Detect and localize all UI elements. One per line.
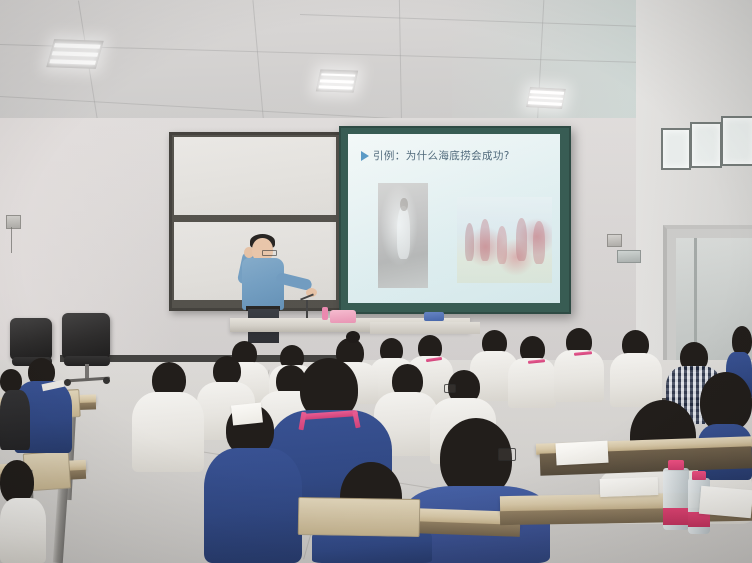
- office-chair[interactable]: [62, 313, 110, 359]
- attendee-torso: [0, 390, 30, 450]
- paper-sheet: [555, 441, 608, 466]
- ceiling-seam: [252, 0, 264, 128]
- presenter-torso: [242, 258, 284, 310]
- wall-speaker-icon: [6, 215, 21, 229]
- slide-photo-restaurant: [378, 183, 428, 288]
- office-chair[interactable]: [10, 318, 52, 360]
- chevron-right-icon: [361, 151, 369, 161]
- water-bottle-cap: [668, 460, 684, 470]
- hair-bun: [346, 331, 360, 343]
- slide-photo-staff-group: [457, 197, 552, 283]
- ceiling-light-center: [316, 69, 358, 92]
- chair-caster: [103, 377, 110, 384]
- blue-item-on-desk: [424, 312, 444, 321]
- speaker-cord: [11, 227, 12, 253]
- slide-title: 引例：为什么海底捞会成功?: [373, 148, 510, 163]
- attendee-head: [700, 372, 752, 432]
- clerestory-window: [690, 122, 722, 168]
- ceiling-light-right: [526, 87, 566, 109]
- glasses-icon: [444, 384, 456, 393]
- wall-sensor-icon: [607, 234, 622, 247]
- paper-sheet: [600, 477, 659, 497]
- water-bottle-label: [663, 508, 689, 525]
- clerestory-window: [721, 116, 752, 166]
- clerestory-window: [661, 128, 691, 170]
- attendee-torso: [132, 392, 204, 472]
- chair-caster: [64, 379, 71, 386]
- attendee-torso: [508, 358, 556, 408]
- ceiling-light-left: [46, 39, 103, 69]
- glasses-icon: [498, 448, 516, 461]
- paper-sheet: [699, 486, 752, 518]
- ceiling-seam: [399, 0, 402, 128]
- podium-desk-right: [370, 322, 480, 334]
- pink-cup: [322, 307, 328, 320]
- whiteboard-upper-panel: [174, 137, 336, 215]
- projection-screen: 引例：为什么海底捞会成功?: [348, 134, 560, 303]
- attendee-torso: [554, 350, 604, 402]
- attendee-torso: [0, 498, 46, 563]
- bench-seat-back-foreground: [298, 497, 421, 537]
- classroom-photo-scene: 引例：为什么海底捞会成功?: [0, 0, 752, 563]
- attendee-torso: [204, 448, 302, 563]
- pink-bag: [330, 310, 356, 323]
- water-bottle-cap: [692, 471, 706, 480]
- glasses-icon: [262, 250, 277, 256]
- slide-title-row: 引例：为什么海底捞会成功?: [361, 148, 510, 163]
- wall-outlet-box: [617, 250, 641, 263]
- attendee-torso: [610, 353, 662, 407]
- paper-sheet: [231, 402, 263, 425]
